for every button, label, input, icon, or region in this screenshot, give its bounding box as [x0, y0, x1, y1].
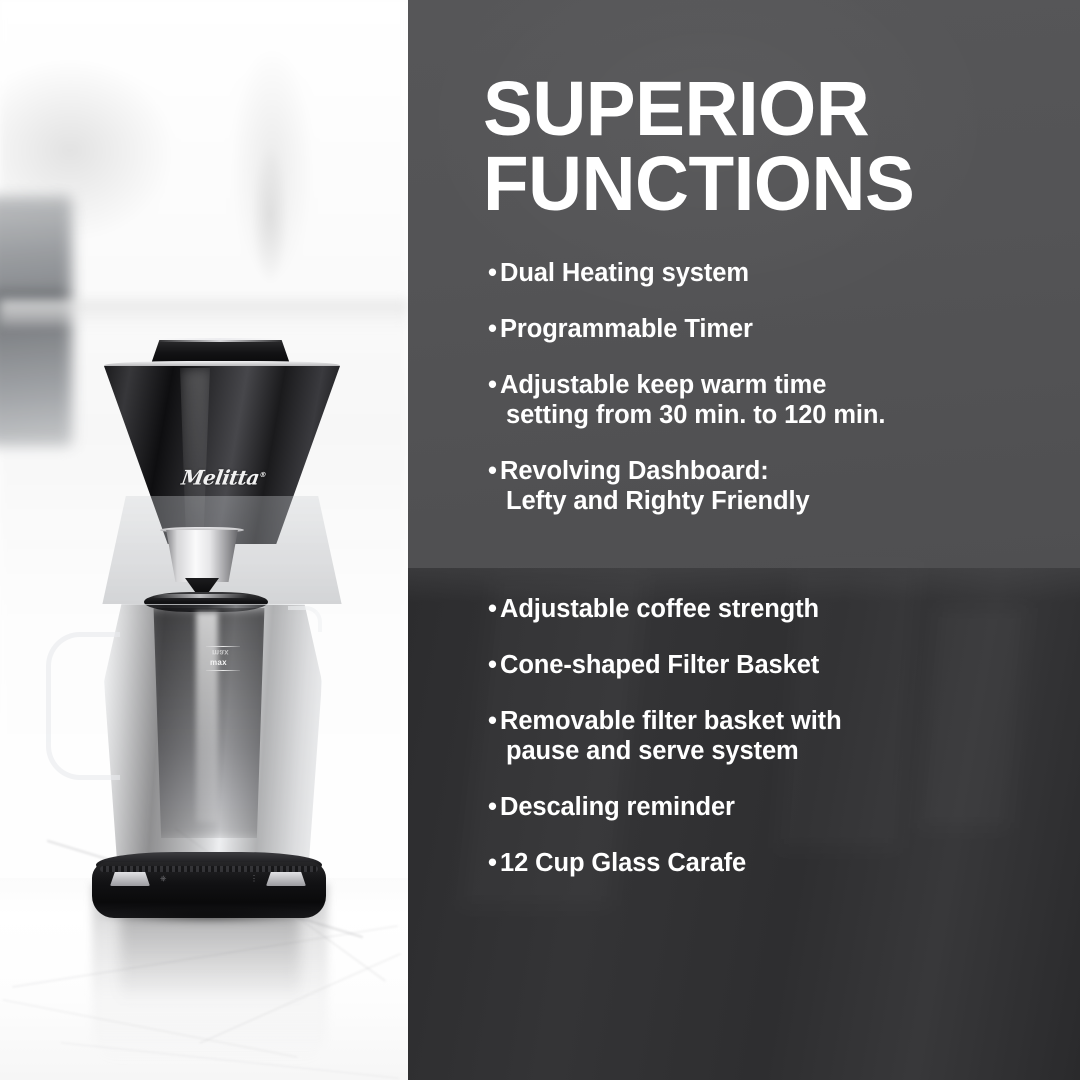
carafe-spout	[288, 606, 322, 632]
power-icon: ⎈	[160, 874, 166, 884]
product-brand-text: Melitta	[180, 466, 261, 490]
list-item: • Programmable Timer	[488, 314, 1048, 344]
feature-list-secondary: • Adjustable coffee strength • Cone-shap…	[488, 594, 1048, 904]
feature-text: Cone-shaped Filter Basket	[500, 650, 1048, 680]
carafe-gloss-highlight	[196, 612, 218, 822]
bullet-icon: •	[488, 650, 499, 680]
list-item: • Descaling reminder	[488, 792, 1048, 822]
content-panel: SUPERIOR FUNCTIONS • Dual Heating system…	[408, 0, 1080, 1080]
page-title-line-2: FUNCTIONS	[483, 147, 1026, 222]
list-item: • Cone-shaped Filter Basket	[488, 650, 1048, 680]
carafe-max-label-reflection: max	[212, 648, 229, 657]
feature-text-line-1: Dual Heating system	[500, 259, 749, 287]
feature-text: Dual Heating system	[500, 258, 1048, 288]
carafe-handle	[46, 632, 120, 780]
base-contact-shadow	[96, 908, 322, 924]
feature-text: Descaling reminder	[500, 792, 1048, 822]
feature-text: Adjustable coffee strength	[500, 594, 1048, 624]
list-item: • Adjustable coffee strength	[488, 594, 1048, 624]
feature-text-line-1: Adjustable keep warm time	[500, 371, 826, 399]
carafe-max-line-reflection	[206, 646, 240, 647]
bullet-icon: •	[488, 370, 499, 400]
feature-text-line-1: Programmable Timer	[500, 315, 753, 343]
bullet-icon: •	[488, 314, 499, 344]
lower-section: • Adjustable coffee strength • Cone-shap…	[408, 568, 1080, 1080]
carafe-lid-highlight	[152, 594, 248, 598]
lid-highlight	[156, 338, 284, 342]
list-item: • 12 Cup Glass Carafe	[488, 848, 1048, 878]
feature-text: Revolving Dashboard: Lefty and Righty Fr…	[500, 456, 1048, 516]
feature-text: 12 Cup Glass Carafe	[500, 848, 1048, 878]
feature-text-line-1: 12 Cup Glass Carafe	[500, 849, 746, 877]
carafe-max-line	[206, 670, 240, 671]
list-item: • Dual Heating system	[488, 258, 1048, 288]
control-button-right[interactable]	[266, 872, 306, 886]
control-button-left[interactable]	[110, 872, 150, 886]
feature-text-line-2: setting from 30 min. to 120 min.	[500, 400, 1048, 430]
page-title-line-1: SUPERIOR	[483, 72, 1026, 147]
feature-list-primary: • Dual Heating system • Programmable Tim…	[488, 258, 1048, 542]
feature-text-line-1: Cone-shaped Filter Basket	[500, 651, 819, 679]
feature-text: Programmable Timer	[500, 314, 1048, 344]
bullet-icon: •	[488, 594, 499, 624]
feature-text-line-1: Adjustable coffee strength	[500, 595, 819, 623]
settings-icon: ⋮	[250, 874, 258, 883]
bullet-icon: •	[488, 258, 499, 288]
list-item: • Revolving Dashboard: Lefty and Righty …	[488, 456, 1048, 516]
chrome-band	[163, 530, 241, 582]
list-item: • Adjustable keep warm time setting from…	[488, 370, 1048, 430]
bullet-icon: •	[488, 848, 499, 878]
product-brand-logo: Melitta®	[174, 462, 274, 488]
list-item: • Removable filter basket with pause and…	[488, 706, 1048, 766]
carafe-max-label: max	[210, 658, 227, 667]
coffee-maker: Melitta® max max ⎈ ⋮	[0, 0, 408, 1080]
page-title: SUPERIOR FUNCTIONS	[483, 72, 1026, 221]
upper-section: SUPERIOR FUNCTIONS • Dual Heating system…	[408, 0, 1080, 568]
product-photo-panel: Melitta® max max ⎈ ⋮	[0, 0, 408, 1080]
bullet-icon: •	[488, 706, 499, 736]
bullet-icon: •	[488, 456, 499, 486]
feature-text-line-1: Revolving Dashboard:	[500, 457, 769, 485]
product-brand-registered-icon: ®	[259, 470, 267, 479]
bullet-icon: •	[488, 792, 499, 822]
feature-text-line-2: Lefty and Righty Friendly	[500, 486, 1048, 516]
feature-text-line-1: Removable filter basket with	[500, 707, 842, 735]
feature-text: Adjustable keep warm time setting from 3…	[500, 370, 1048, 430]
feature-text-line-1: Descaling reminder	[500, 793, 735, 821]
marketing-banner: Melitta® max max ⎈ ⋮	[0, 0, 1080, 1080]
feature-text-line-2: pause and serve system	[500, 736, 1048, 766]
feature-text: Removable filter basket with pause and s…	[500, 706, 1048, 766]
base-ridge-texture	[100, 866, 318, 872]
